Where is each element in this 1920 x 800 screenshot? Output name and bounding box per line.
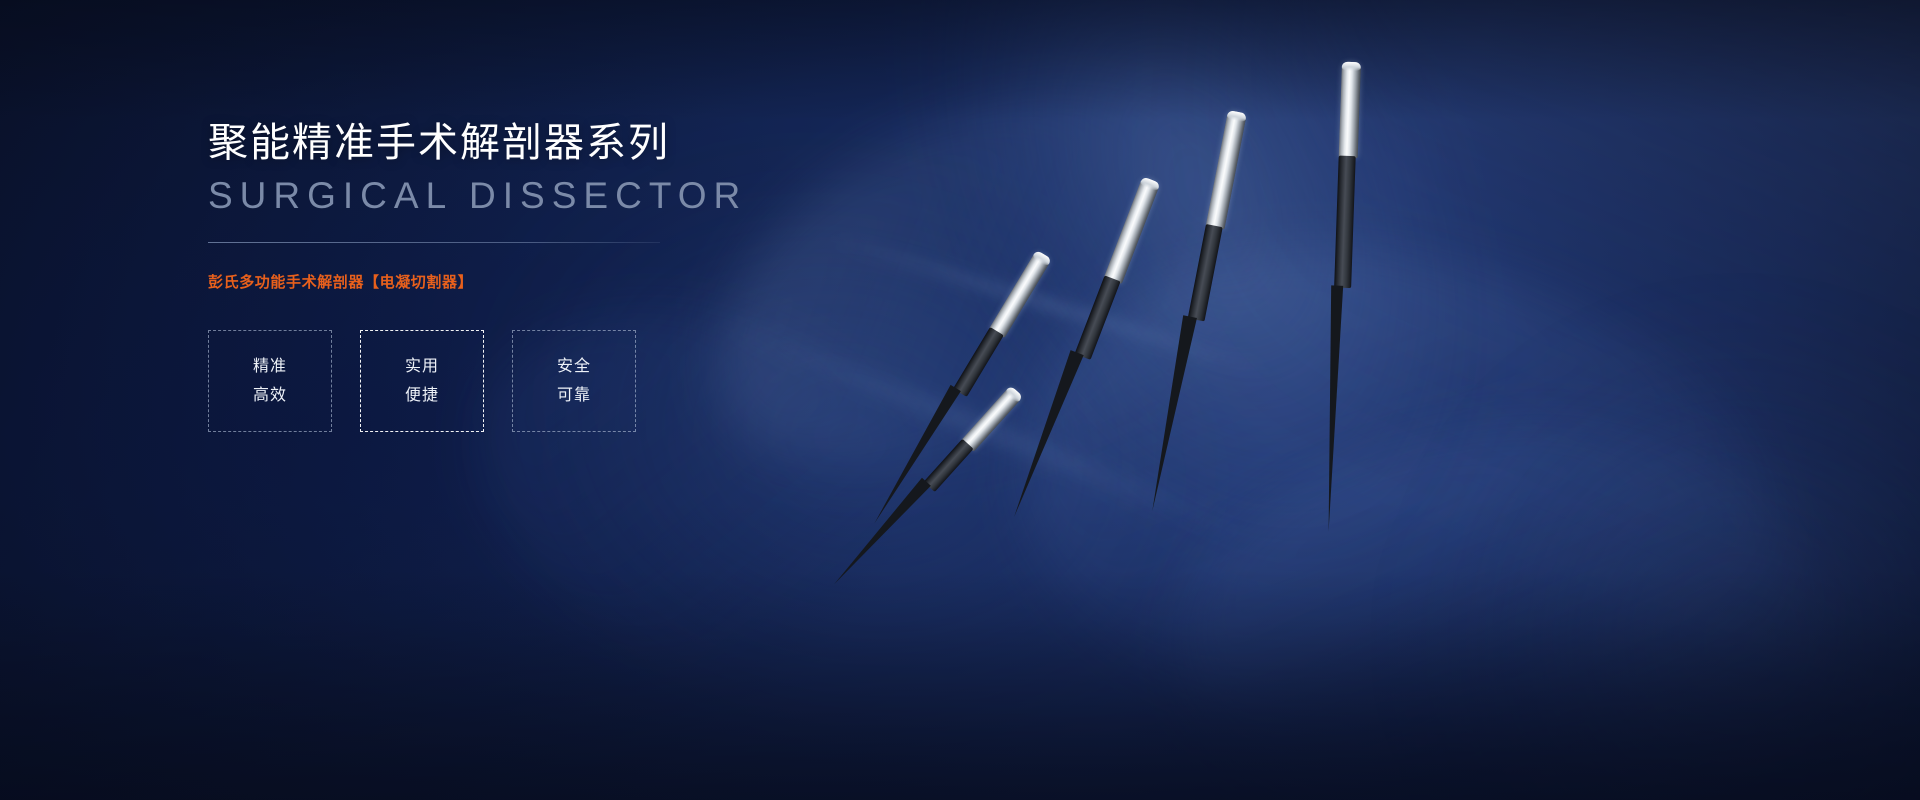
instrument-group — [960, 0, 1920, 800]
feature-badge-1[interactable]: 精准 高效 — [208, 330, 332, 432]
instrument-tip — [1152, 317, 1204, 514]
divider — [208, 242, 660, 243]
surgical-dissector-5 — [1333, 62, 1362, 333]
feature-badge-2[interactable]: 实用 便捷 — [360, 330, 484, 432]
hero-copy: 聚能精准手术解剖器系列 SURGICAL DISSECTOR 彭氏多功能手术解剖… — [208, 118, 848, 432]
instrument-handle — [1104, 176, 1160, 284]
page-title: 聚能精准手术解剖器系列 — [208, 118, 848, 169]
feature-badge-3-line1: 安全 — [557, 352, 591, 382]
instrument-handle — [1339, 62, 1361, 159]
feature-badge-1-line2: 高效 — [253, 381, 287, 411]
instrument-tip — [1328, 286, 1349, 532]
feature-badge-3[interactable]: 安全 可靠 — [512, 330, 636, 432]
feature-badge-2-line1: 实用 — [405, 352, 439, 382]
surgical-dissector-4 — [1180, 110, 1247, 359]
page-subtitle-en: SURGICAL DISSECTOR — [208, 173, 848, 218]
feature-badge-3-line2: 可靠 — [557, 381, 591, 411]
feature-badge-list: 精准 高效 实用 便捷 安全 可靠 — [208, 330, 848, 432]
feature-badge-1-line1: 精准 — [253, 352, 287, 382]
instrument-tip — [1014, 352, 1090, 521]
surgical-dissector-3 — [1060, 176, 1161, 398]
product-name-label: 彭氏多功能手术解剖器【电凝切割器】 — [208, 271, 848, 292]
instrument-shaft — [1334, 156, 1356, 289]
instrument-shaft — [1075, 275, 1121, 360]
feature-badge-2-line2: 便捷 — [405, 381, 439, 411]
instrument-shaft — [1188, 224, 1223, 321]
instrument-handle — [1206, 110, 1247, 229]
banner-hero: 聚能精准手术解剖器系列 SURGICAL DISSECTOR 彭氏多功能手术解剖… — [0, 0, 1920, 800]
instrument-handle — [989, 250, 1052, 338]
instrument-shaft — [953, 327, 1004, 397]
